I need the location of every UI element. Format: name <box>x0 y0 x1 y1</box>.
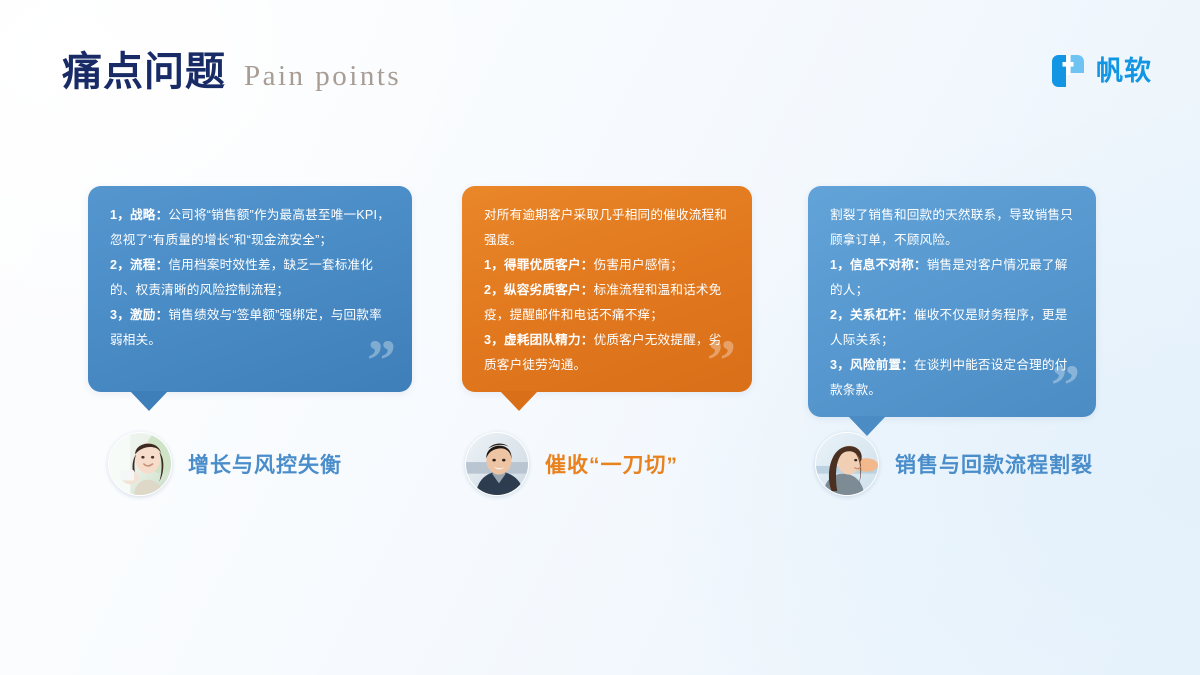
card-1-line-1: 1，战略：公司将“销售额”作为最高甚至唯一KPI，忽视了“有质量的增长”和“现金… <box>110 203 390 253</box>
pain-point-label-row-3[interactable]: 销售与回款流程割裂 <box>815 432 1093 496</box>
card-1-body: 1，战略：公司将“销售额”作为最高甚至唯一KPI，忽视了“有质量的增长”和“现金… <box>110 203 390 353</box>
pain-point-label-row-2[interactable]: 催收“一刀切” <box>465 432 678 496</box>
pain-point-card-3[interactable]: 割裂了销售和回款的天然联系，导致销售只顾拿订单，不顾风险。 1，信息不对称：销售… <box>808 186 1096 417</box>
card-2-body: 对所有逾期客户采取几乎相同的催收流程和强度。 1，得罪优质客户：伤害用户感情； … <box>484 203 730 378</box>
pain-point-label-row-1[interactable]: 增长与风控失衡 <box>108 432 342 496</box>
card-1-bold-2: 2，流程： <box>110 258 168 272</box>
card-3-line-2: 1，信息不对称：销售是对客户情况最了解的人； <box>830 253 1074 303</box>
speech-bubble-3: 割裂了销售和回款的天然联系，导致销售只顾拿订单，不顾风险。 1，信息不对称：销售… <box>808 186 1096 417</box>
card-3-bold-3: 2，关系杠杆： <box>830 308 914 322</box>
card-3-bold-2: 1，信息不对称： <box>830 258 927 272</box>
speech-bubble-2: 对所有逾期客户采取几乎相同的催收流程和强度。 1，得罪优质客户：伤害用户感情； … <box>462 186 752 392</box>
card-1-bold-1: 1，战略： <box>110 208 168 222</box>
woman-profile-avatar <box>815 432 879 496</box>
card-3-line-3: 2，关系杠杆：催收不仅是财务程序，更是人际关系； <box>830 303 1074 353</box>
bubble-tail-2 <box>500 391 538 411</box>
card-2-line-2: 1，得罪优质客户：伤害用户感情； <box>484 253 730 278</box>
pain-point-label-2: 催收“一刀切” <box>545 449 678 479</box>
card-2-text-2: 伤害用户感情； <box>594 258 684 272</box>
card-3-line-4: 3，风险前置：在谈判中能否设定合理的付款条款。 <box>830 353 1074 403</box>
card-2-bold-3: 2，纵容劣质客户： <box>484 283 594 297</box>
card-2-bold-2: 1，得罪优质客户： <box>484 258 594 272</box>
pain-points-cards: 1，战略：公司将“销售额”作为最高甚至唯一KPI，忽视了“有质量的增长”和“现金… <box>0 0 1200 675</box>
woman-smiling-avatar <box>108 432 172 496</box>
card-2-line-4: 3，虚耗团队精力：优质客户无效提醒，劣质客户徒劳沟通。 <box>484 328 730 378</box>
man-suit-avatar <box>465 432 529 496</box>
card-1-line-2: 2，流程：信用档案时效性差，缺乏一套标准化的、权责清晰的风险控制流程； <box>110 253 390 303</box>
card-2-line-3: 2，纵容劣质客户：标准流程和温和话术免疫，提醒邮件和电话不痛不痒； <box>484 278 730 328</box>
card-3-line-1: 割裂了销售和回款的天然联系，导致销售只顾拿订单，不顾风险。 <box>830 203 1074 253</box>
card-3-body: 割裂了销售和回款的天然联系，导致销售只顾拿订单，不顾风险。 1，信息不对称：销售… <box>830 203 1074 403</box>
bubble-tail-1 <box>130 391 168 411</box>
card-1-bold-3: 3，激励： <box>110 308 168 322</box>
card-1-line-3: 3，激励：销售绩效与“签单额”强绑定，与回款率弱相关。 <box>110 303 390 353</box>
pain-point-card-2[interactable]: 对所有逾期客户采取几乎相同的催收流程和强度。 1，得罪优质客户：伤害用户感情； … <box>462 186 752 392</box>
card-3-bold-4: 3，风险前置： <box>830 358 914 372</box>
pain-point-label-1: 增长与风控失衡 <box>188 449 342 479</box>
speech-bubble-1: 1，战略：公司将“销售额”作为最高甚至唯一KPI，忽视了“有质量的增长”和“现金… <box>88 186 412 392</box>
pain-point-label-3: 销售与回款流程割裂 <box>895 449 1093 479</box>
card-2-bold-4: 3，虚耗团队精力： <box>484 333 594 347</box>
card-3-text-1: 割裂了销售和回款的天然联系，导致销售只顾拿订单，不顾风险。 <box>830 208 1073 247</box>
card-2-line-1: 对所有逾期客户采取几乎相同的催收流程和强度。 <box>484 203 730 253</box>
pain-point-card-1[interactable]: 1，战略：公司将“销售额”作为最高甚至唯一KPI，忽视了“有质量的增长”和“现金… <box>88 186 412 392</box>
card-2-text-1: 对所有逾期客户采取几乎相同的催收流程和强度。 <box>484 208 727 247</box>
